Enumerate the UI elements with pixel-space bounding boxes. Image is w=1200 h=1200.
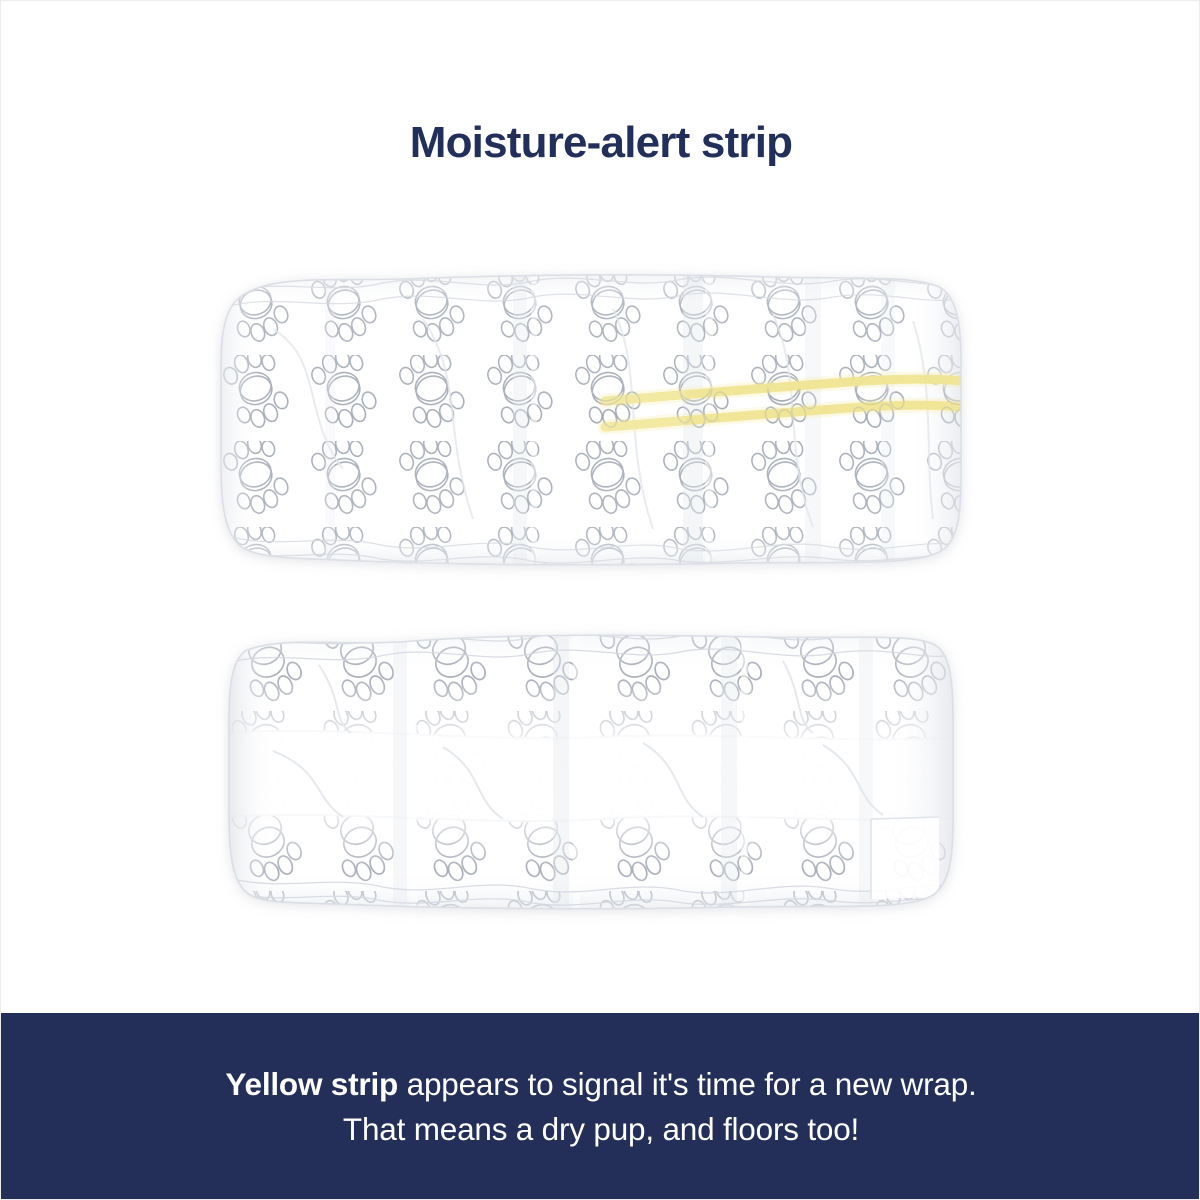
footer-caption-line-1: Yellow strip appears to signal it's time… (225, 1062, 976, 1107)
footer-caption-band: Yellow strip appears to signal it's time… (1, 1013, 1200, 1200)
footer-line1-rest: appears to signal it's time for a new wr… (398, 1066, 977, 1102)
footer-caption-line-2: That means a dry pup, and floors too! (343, 1107, 859, 1152)
product-photo-area (1, 231, 1200, 991)
product-feature-image: Moisture-alert strip (0, 0, 1200, 1200)
product-image-wrap-wet (213, 269, 969, 571)
page-title: Moisture-alert strip (1, 119, 1200, 167)
product-image-wrap-dry (223, 621, 963, 916)
footer-highlight-text: Yellow strip (225, 1066, 398, 1102)
